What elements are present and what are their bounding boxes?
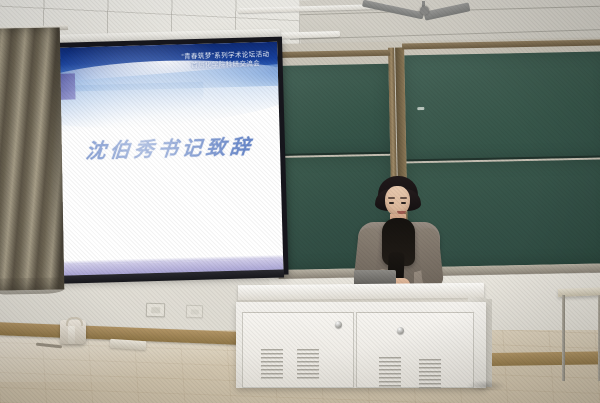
fan-hub xyxy=(420,6,429,15)
fan-blade xyxy=(362,0,424,19)
blackboard-panel xyxy=(404,51,600,161)
podium-shadow xyxy=(466,380,506,392)
window-curtain xyxy=(0,27,64,290)
bottle xyxy=(68,326,75,344)
podium-body xyxy=(236,302,486,388)
projected-slide: “青春筑梦”系列学术论坛活动 首届化学院科研交流会 沈伯秀书记致辞 xyxy=(57,42,283,276)
fan-blade xyxy=(424,2,471,20)
slide-title: 沈伯秀书记致辞 xyxy=(59,130,282,165)
eyebrow xyxy=(400,197,407,199)
slide-header-text: “青春筑梦”系列学术论坛活动 首届化学院科研交流会 xyxy=(181,51,269,71)
podium-door-knob[interactable] xyxy=(335,321,342,328)
eyebrow xyxy=(388,197,395,199)
slide-swoosh-graphic xyxy=(57,82,204,132)
corner-objects xyxy=(56,318,90,346)
podium-door-left[interactable] xyxy=(242,312,354,388)
wall-outlet[interactable] xyxy=(146,303,165,317)
classroom-photo: “青春筑梦”系列学术论坛活动 首届化学院科研交流会 沈伯秀书记致辞 xyxy=(0,0,600,403)
podium-vent xyxy=(261,349,283,379)
outlet-socket xyxy=(151,307,161,313)
chalk-mark xyxy=(417,107,424,110)
eye xyxy=(389,202,394,204)
podium-vent xyxy=(419,359,441,389)
eye xyxy=(401,202,406,204)
blackboard-panel xyxy=(280,64,390,156)
speaker-face xyxy=(385,186,410,216)
podium-vent xyxy=(297,349,319,379)
podium-door-right[interactable] xyxy=(356,312,474,388)
podium-vent xyxy=(379,357,401,387)
side-table xyxy=(558,288,600,388)
side-table-leg xyxy=(562,295,565,381)
projection-screen: “青春筑梦”系列学术论坛活动 首届化学院科研交流会 沈伯秀书记致辞 xyxy=(52,37,289,281)
wall-outlet[interactable] xyxy=(186,305,203,318)
outlet-socket xyxy=(190,309,199,314)
lecture-podium xyxy=(236,284,486,403)
ceiling-fan xyxy=(352,1,472,31)
podium-door-knob[interactable] xyxy=(397,327,404,334)
